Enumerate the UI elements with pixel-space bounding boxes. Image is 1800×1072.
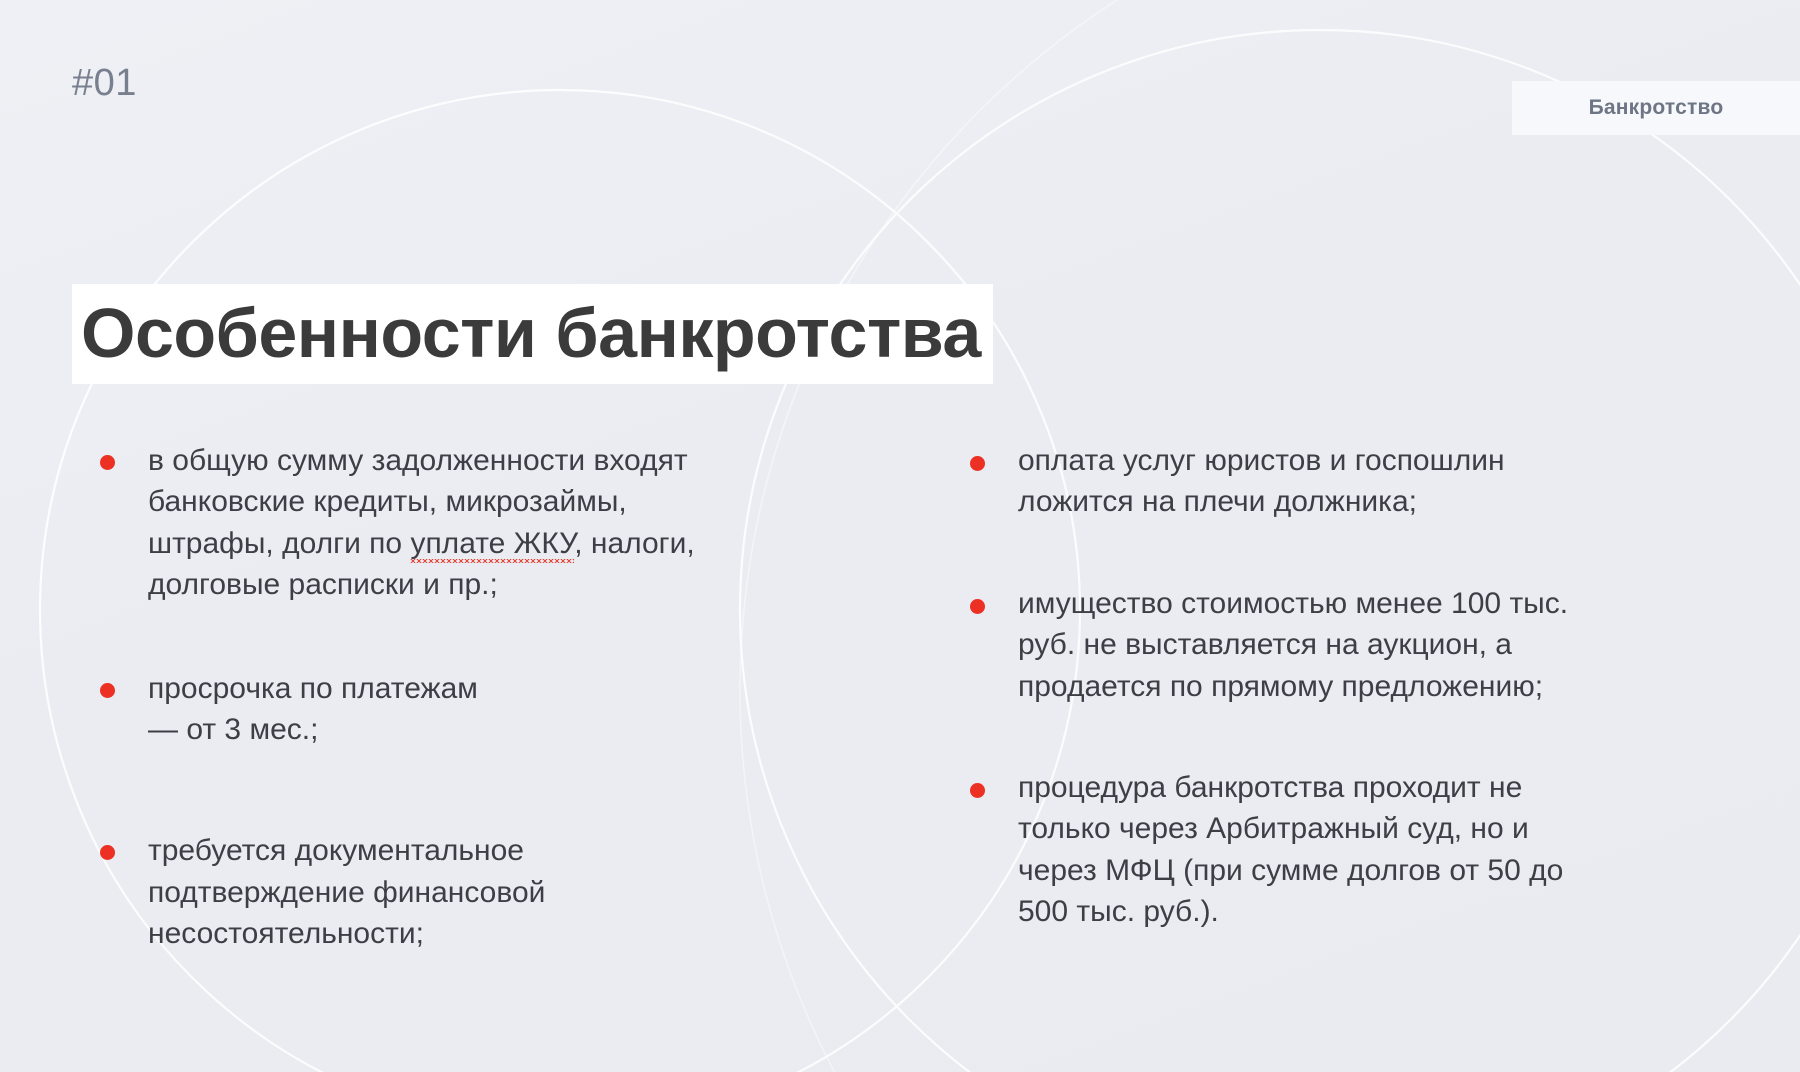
- bullet-line: имущество стоимостью менее 100 тыс.: [1018, 587, 1568, 620]
- list-item-text: требуется документальное подтверждение ф…: [148, 830, 545, 954]
- bullet-dot-icon: [100, 845, 115, 860]
- list-item: процедура банкротства проходит не только…: [970, 767, 1670, 933]
- list-item-text: в общую сумму задолженности входят банко…: [148, 440, 695, 606]
- topic-badge: Банкротство: [1512, 81, 1800, 135]
- bullet-line: оплата услуг юристов и госпошлин: [1018, 444, 1505, 477]
- list-item: просрочка по платежам — от 3 мес.;: [100, 668, 860, 751]
- title-container: Особенности банкротства: [72, 237, 993, 431]
- list-item-text: оплата услуг юристов и госпошлин ложится…: [1018, 440, 1505, 523]
- page-title: Особенности банкротства: [72, 284, 993, 384]
- bullet-line: продается по прямому предложению;: [1018, 670, 1543, 703]
- list-item: требуется документальное подтверждение ф…: [100, 830, 860, 954]
- bullet-line: требуется документальное: [148, 834, 524, 867]
- topic-badge-label: Банкротство: [1589, 96, 1724, 120]
- bullet-column-right: оплата услуг юристов и госпошлин ложится…: [970, 440, 1670, 955]
- list-item-text: процедура банкротства проходит не только…: [1018, 767, 1563, 933]
- list-item-text: имущество стоимостью менее 100 тыс. руб.…: [1018, 583, 1568, 707]
- bullet-line: в общую сумму задолженности входят: [148, 444, 688, 477]
- spellcheck-misspelled-text: уплате ЖКУ: [410, 527, 574, 563]
- bullet-dot-icon: [970, 456, 985, 471]
- bullet-line: просрочка по платежам: [148, 672, 478, 705]
- bullet-line: руб. не выставляется на аукцион, а: [1018, 628, 1512, 661]
- section-number: #01: [72, 64, 137, 102]
- bullet-dot-icon: [970, 599, 985, 614]
- bullet-line: только через Арбитражный суд, но и: [1018, 812, 1529, 845]
- bullet-line: подтверждение финансовой: [148, 876, 545, 909]
- bullet-line: долговые расписки и пр.;: [148, 568, 498, 601]
- content-columns: в общую сумму задолженности входят банко…: [0, 440, 1800, 955]
- bullet-line: банковские кредиты, микрозаймы,: [148, 485, 627, 518]
- bullet-line: — от 3 мес.;: [148, 713, 318, 746]
- bullet-dot-icon: [970, 783, 985, 798]
- bullet-column-left: в общую сумму задолженности входят банко…: [100, 440, 860, 955]
- bullet-line: 500 тыс. руб.).: [1018, 895, 1219, 928]
- bullet-dot-icon: [100, 683, 115, 698]
- bullet-line: , налоги,: [574, 527, 694, 560]
- list-item-text: просрочка по платежам — от 3 мес.;: [148, 668, 478, 751]
- list-item: оплата услуг юристов и госпошлин ложится…: [970, 440, 1670, 523]
- bullet-dot-icon: [100, 455, 115, 470]
- list-item: имущество стоимостью менее 100 тыс. руб.…: [970, 583, 1670, 707]
- bullet-line: ложится на плечи должника;: [1018, 485, 1417, 518]
- bullet-line: через МФЦ (при сумме долгов от 50 до: [1018, 854, 1563, 887]
- slide: #01 Банкротство Особенности банкротства …: [0, 0, 1800, 1072]
- list-item: в общую сумму задолженности входят банко…: [100, 440, 860, 606]
- bullet-line: процедура банкротства проходит не: [1018, 771, 1522, 804]
- bullet-line: штрафы, долги по: [148, 527, 410, 560]
- bullet-line: несостоятельности;: [148, 917, 424, 950]
